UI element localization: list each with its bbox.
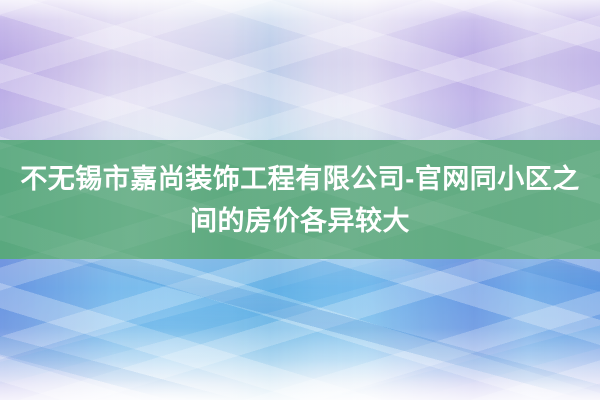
banner-title: 不无锡市嘉尚装饰工程有限公司-官网同小区之间的房价各异较大 xyxy=(10,158,590,242)
banner-title-line-2: 的房价各异较大 xyxy=(218,206,411,236)
promo-banner: 不无锡市嘉尚装饰工程有限公司-官网同小区之间的房价各异较大 xyxy=(0,0,600,400)
title-band: 不无锡市嘉尚装饰工程有限公司-官网同小区之间的房价各异较大 xyxy=(0,140,600,259)
